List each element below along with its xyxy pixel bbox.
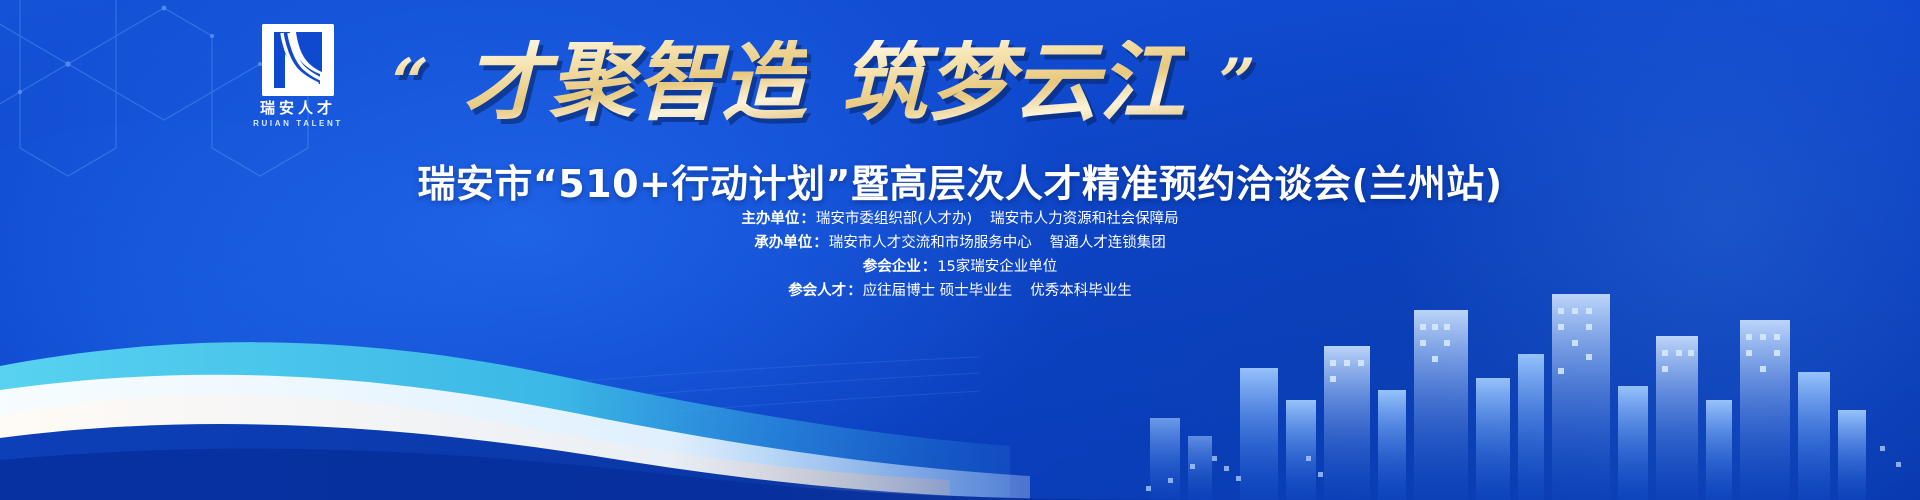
close-quote: ”: [1219, 51, 1256, 115]
wave-ribbons-graphic: [0, 270, 1920, 500]
detail-value-primary: 应往届博士 硕士毕业生: [863, 282, 1013, 300]
event-subtitle: 瑞安市“510+行动计划”暨高层次人才精准预约洽谈会(兰州站): [0, 153, 1920, 208]
detail-label: 参会企业: [863, 258, 921, 276]
detail-row-attendees: 参会人才 ： 应往届博士 硕士毕业生 优秀本科毕业生: [788, 282, 1132, 300]
detail-separator: ：: [846, 282, 863, 300]
detail-row-coorganizer: 承办单位 ： 瑞安市人才交流和市场服务中心 智通人才连锁集团: [754, 234, 1166, 252]
detail-label: 主办单位: [741, 210, 799, 228]
event-details: 主办单位 ： 瑞安市委组织部(人才办) 瑞安市人力资源和社会保障局 承办单位 ：…: [0, 210, 1920, 301]
title-phrase-1: 才聚智造: [463, 40, 807, 126]
detail-row-companies: 参会企业 ： 15家瑞安企业单位: [863, 258, 1057, 276]
detail-value-primary: 瑞安市人才交流和市场服务中心: [829, 234, 1032, 252]
logo-name-cn: 瑞安人才: [243, 101, 353, 116]
detail-value-secondary: 瑞安市人力资源和社会保障局: [990, 210, 1179, 228]
detail-value-primary: 瑞安市委组织部(人才办): [816, 210, 972, 228]
ruian-talent-logo: 瑞安人才 RUIAN TALENT: [243, 24, 353, 128]
logo-name-en: RUIAN TALENT: [243, 120, 353, 128]
event-banner: 瑞安人才 RUIAN TALENT “ 才聚智造 筑梦云江 ” 瑞安市“510+…: [0, 0, 1920, 500]
detail-value-primary: 15家瑞安企业单位: [937, 258, 1057, 276]
detail-separator: ：: [812, 234, 829, 252]
detail-value-secondary: 智通人才连锁集团: [1050, 234, 1166, 252]
logo-monogram-icon: [262, 24, 334, 96]
detail-label: 参会人才: [788, 282, 846, 300]
title-phrase-2: 筑梦云江: [841, 40, 1185, 126]
detail-row-organizer: 主办单位 ： 瑞安市委组织部(人才办) 瑞安市人力资源和社会保障局: [741, 210, 1178, 228]
main-title: “ 才聚智造 筑梦云江 ”: [392, 28, 1212, 138]
detail-label: 承办单位: [754, 234, 812, 252]
detail-separator: ：: [921, 258, 938, 276]
detail-separator: ：: [799, 210, 816, 228]
open-quote: “: [392, 51, 429, 115]
detail-value-secondary: 优秀本科毕业生: [1030, 282, 1132, 300]
